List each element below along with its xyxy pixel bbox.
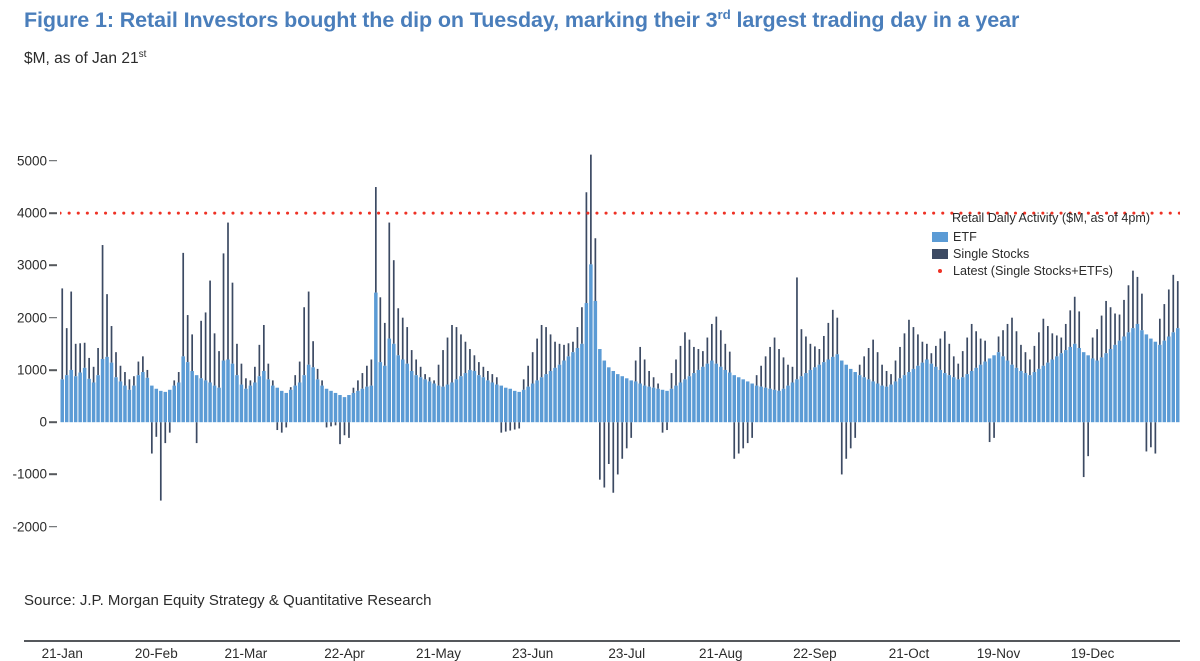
bar-etf — [585, 303, 588, 422]
bar-etf — [181, 356, 184, 422]
bar-etf — [329, 391, 332, 422]
bar-single-stocks — [621, 422, 623, 459]
y-axis-tick-mark — [49, 526, 57, 528]
bar-single-stocks — [666, 422, 668, 430]
bar-single-stocks — [1047, 326, 1049, 363]
bar-etf — [302, 375, 305, 422]
bar-single-stocks — [518, 422, 520, 428]
bar-single-stocks — [1132, 271, 1134, 328]
bar-etf — [1172, 332, 1175, 422]
bar-single-stocks — [662, 422, 664, 432]
bar-etf — [1100, 357, 1103, 422]
x-axis-tick-label: 20-Feb — [135, 646, 178, 661]
bar-single-stocks — [966, 338, 968, 375]
legend-item-etf[interactable]: ETF — [932, 228, 1198, 245]
bar-etf — [1055, 356, 1058, 422]
bar-etf — [759, 387, 762, 423]
bar-etf — [208, 382, 211, 422]
bar-etf — [217, 388, 220, 422]
bar-single-stocks — [792, 367, 794, 383]
bar-etf — [912, 369, 915, 422]
bar-single-stocks — [917, 334, 919, 365]
bar-single-stocks — [890, 374, 892, 384]
bar-single-stocks — [1168, 289, 1170, 336]
bar-etf — [992, 355, 995, 422]
y-axis-tick-mark — [49, 474, 57, 476]
bar-single-stocks — [926, 344, 928, 360]
bar-etf — [531, 384, 534, 423]
bar-single-stocks — [1029, 359, 1031, 375]
bar-single-stocks — [1074, 297, 1076, 344]
bar-single-stocks — [527, 366, 529, 387]
bar-single-stocks — [182, 253, 184, 356]
bar-etf — [60, 379, 63, 422]
bar-etf — [1145, 334, 1148, 422]
bar-single-stocks — [344, 422, 346, 435]
bar-etf — [876, 384, 879, 423]
bar-single-stocks — [1110, 307, 1112, 349]
bar-etf — [450, 382, 453, 422]
bar-single-stocks — [523, 379, 525, 389]
bar-single-stocks — [84, 343, 86, 368]
bar-single-stocks — [1016, 331, 1018, 368]
bar-etf — [809, 370, 812, 422]
bar-single-stocks — [102, 245, 104, 359]
bar-single-stocks — [810, 344, 812, 370]
bar-single-stocks — [541, 325, 543, 377]
bar-etf — [652, 388, 655, 422]
bar-single-stocks — [586, 192, 588, 303]
bar-single-stocks — [1150, 422, 1152, 447]
bar-single-stocks — [778, 349, 780, 391]
plot-area — [60, 140, 1180, 545]
bar-single-stocks — [608, 422, 610, 464]
bar-single-stocks — [465, 342, 467, 373]
bar-etf — [701, 367, 704, 422]
bar-single-stocks — [406, 327, 408, 364]
y-axis-tick-label: 0 — [39, 415, 47, 430]
page-title-superscript: rd — [718, 7, 731, 22]
bar-single-stocks — [823, 336, 825, 362]
bar-single-stocks — [115, 352, 117, 377]
bar-single-stocks — [500, 422, 502, 432]
bar-etf — [204, 380, 207, 422]
bar-etf — [983, 362, 986, 423]
bar-single-stocks — [980, 339, 982, 365]
bar-single-stocks — [1007, 324, 1009, 361]
bar-etf — [137, 375, 140, 422]
bar-etf — [549, 371, 552, 422]
bar-etf — [164, 392, 167, 422]
x-axis-tick-label: 22-Sep — [793, 646, 837, 661]
bar-etf — [768, 389, 771, 422]
bar-etf — [782, 389, 785, 422]
bar-etf — [361, 389, 364, 422]
legend-item-latest[interactable]: Latest (Single Stocks+ETFs) — [932, 262, 1198, 279]
bar-single-stocks — [559, 344, 561, 365]
bar-etf — [1136, 324, 1139, 422]
bar-etf — [177, 382, 180, 422]
bar-etf — [728, 373, 731, 423]
bar-etf — [607, 367, 610, 422]
bar-single-stocks — [173, 380, 175, 385]
bar-etf — [1104, 353, 1107, 422]
bar-single-stocks — [635, 361, 637, 382]
bar-single-stocks — [545, 327, 547, 374]
bar-etf — [172, 386, 175, 423]
bar-single-stocks — [774, 338, 776, 390]
bar-single-stocks — [957, 364, 959, 380]
bar-single-stocks — [379, 297, 381, 362]
y-axis: -2000-1000010002000300040005000 — [0, 95, 47, 575]
bar-etf — [764, 388, 767, 422]
bar-etf — [813, 367, 816, 422]
bar-single-stocks — [572, 342, 574, 352]
bar-etf — [939, 370, 942, 422]
bar-etf — [836, 354, 839, 422]
bar-etf — [267, 379, 270, 422]
bar-etf — [284, 393, 287, 422]
bar-etf — [921, 363, 924, 423]
bar-single-stocks — [630, 422, 632, 438]
bar-etf — [83, 368, 86, 422]
bar-single-stocks — [285, 422, 287, 427]
bar-etf — [849, 369, 852, 422]
bar-etf — [1006, 361, 1009, 423]
bar-single-stocks — [214, 333, 216, 385]
bar-etf — [822, 362, 825, 422]
bar-single-stocks — [169, 422, 171, 432]
bar-etf — [589, 264, 592, 422]
bar-single-stocks — [922, 342, 924, 363]
bar-single-stocks — [151, 422, 153, 453]
x-axis-tick-label: 21-Oct — [889, 646, 930, 661]
bar-single-stocks — [88, 358, 90, 379]
bar-single-stocks — [751, 422, 753, 438]
bar-etf — [150, 386, 153, 423]
bar-single-stocks — [241, 364, 243, 385]
bar-single-stocks — [106, 294, 108, 357]
bar-etf — [661, 390, 664, 422]
bar-single-stocks — [61, 288, 63, 379]
bar-single-stocks — [236, 344, 238, 375]
bar-etf — [827, 359, 830, 422]
bar-single-stocks — [1177, 281, 1179, 328]
bar-single-stocks — [863, 356, 865, 377]
bar-etf — [934, 367, 937, 422]
x-axis-tick-label: 19-Dec — [1071, 646, 1115, 661]
bar-etf — [1109, 349, 1112, 422]
bar-single-stocks — [223, 253, 225, 360]
bar-etf — [1082, 352, 1085, 422]
y-axis-tick-mark — [49, 212, 57, 214]
bar-etf — [1091, 358, 1094, 422]
bar-single-stocks — [424, 374, 426, 379]
bar-etf — [316, 379, 319, 422]
source-note: Source: J.P. Morgan Equity Strategy & Qu… — [24, 592, 431, 609]
bar-single-stocks — [397, 308, 399, 355]
bar-etf — [1028, 375, 1031, 422]
bar-single-stocks — [469, 349, 471, 370]
bar-etf — [858, 375, 861, 422]
bar-single-stocks — [563, 345, 565, 361]
bar-single-stocks — [79, 343, 81, 372]
bar-etf — [1131, 328, 1134, 422]
bar-etf — [1176, 328, 1179, 422]
bar-etf — [486, 380, 489, 422]
bar-etf — [423, 379, 426, 422]
bar-single-stocks — [599, 422, 601, 479]
page-title-suffix: largest trading day in a year — [731, 8, 1020, 32]
bar-single-stocks — [783, 357, 785, 388]
bar-single-stocks — [1101, 316, 1103, 358]
bar-single-stocks — [317, 369, 319, 379]
bar-single-stocks — [384, 323, 386, 366]
bar-single-stocks — [442, 350, 444, 387]
bar-single-stocks — [989, 422, 991, 442]
bar-etf — [141, 372, 144, 422]
bar-single-stocks — [595, 238, 597, 301]
bar-single-stocks — [653, 377, 655, 387]
y-axis-tick-label: -1000 — [12, 467, 47, 482]
bar-single-stocks — [1141, 294, 1143, 331]
bar-etf — [464, 373, 467, 422]
bar-etf — [620, 376, 623, 422]
bar-etf — [235, 375, 238, 422]
bar-etf — [737, 377, 740, 422]
bar-etf — [213, 386, 216, 423]
bar-single-stocks — [603, 422, 605, 487]
bar-etf — [925, 359, 928, 422]
bar-single-stocks — [196, 422, 198, 443]
bar-etf — [526, 387, 529, 423]
bar-single-stocks — [1038, 332, 1040, 369]
bar-etf — [715, 364, 718, 423]
bar-single-stocks — [303, 307, 305, 375]
bar-single-stocks — [250, 380, 252, 385]
bar-etf — [468, 370, 471, 422]
bar-single-stocks — [859, 365, 861, 375]
bar-etf — [74, 376, 77, 422]
bar-single-stocks — [353, 388, 355, 393]
bar-single-stocks — [1159, 319, 1161, 345]
legend-label-latest: Latest (Single Stocks+ETFs) — [953, 264, 1113, 278]
bar-etf — [952, 377, 955, 422]
bar-etf — [517, 392, 520, 422]
y-axis-tick-label: 5000 — [17, 153, 47, 168]
bar-etf — [508, 389, 511, 422]
bar-etf — [997, 352, 1000, 422]
bar-etf — [226, 359, 229, 422]
bar-etf — [755, 386, 758, 423]
bar-etf — [943, 373, 946, 422]
bar-single-stocks — [1034, 346, 1036, 372]
bar-etf — [146, 378, 149, 422]
bar-single-stocks — [276, 422, 278, 430]
bar-etf — [222, 361, 225, 423]
single-stocks-bars — [61, 155, 1178, 501]
page-subtitle-prefix: $M, as of Jan 21 — [24, 50, 139, 67]
bar-single-stocks — [612, 422, 614, 493]
bar-single-stocks — [415, 359, 417, 375]
bar-single-stocks — [254, 367, 256, 383]
bar-etf — [419, 377, 422, 422]
bar-etf — [311, 367, 314, 422]
bar-single-stocks — [1043, 319, 1045, 366]
bar-single-stocks — [886, 371, 888, 387]
bar-single-stocks — [787, 365, 789, 386]
bar-single-stocks — [617, 422, 619, 474]
bar-single-stocks — [326, 422, 328, 427]
bar-etf — [105, 357, 108, 422]
bar-etf — [352, 393, 355, 422]
bar-etf — [491, 382, 494, 422]
bar-single-stocks — [801, 329, 803, 376]
bar-single-stocks — [111, 326, 113, 363]
bar-single-stocks — [411, 350, 413, 371]
bar-single-stocks — [294, 375, 296, 385]
bar-etf — [719, 367, 722, 422]
bar-etf — [880, 386, 883, 423]
bar-etf — [889, 385, 892, 423]
bar-single-stocks — [536, 339, 538, 381]
bar-etf — [974, 368, 977, 422]
bar-etf — [629, 380, 632, 422]
bar-etf — [580, 344, 583, 422]
bar-etf — [482, 377, 485, 422]
bar-single-stocks — [290, 387, 292, 390]
bar-etf — [231, 364, 234, 423]
x-axis-tick-label: 21-May — [416, 646, 461, 661]
bar-single-stocks — [984, 341, 986, 362]
bar-single-stocks — [711, 324, 713, 361]
bar-etf — [428, 381, 431, 422]
bar-single-stocks — [931, 353, 933, 363]
bar-etf — [343, 397, 346, 422]
bar-single-stocks — [845, 422, 847, 459]
legend-item-single-stocks[interactable]: Single Stocks — [932, 245, 1198, 262]
bar-etf — [1127, 332, 1130, 422]
bar-etf — [1060, 353, 1063, 422]
y-axis-tick-mark — [49, 369, 57, 371]
bar-etf — [1122, 336, 1125, 422]
bar-single-stocks — [854, 422, 856, 438]
legend-swatch-latest-dotted-line — [932, 266, 948, 276]
bar-etf — [119, 381, 122, 422]
bar-etf — [1064, 350, 1067, 422]
bar-single-stocks — [97, 348, 99, 375]
bar-etf — [1019, 371, 1022, 422]
bar-single-stocks — [245, 378, 247, 388]
bar-single-stocks — [944, 331, 946, 373]
bar-single-stocks — [756, 375, 758, 385]
bar-single-stocks — [451, 325, 453, 382]
bar-etf — [831, 357, 834, 422]
bar-single-stocks — [491, 374, 493, 382]
bar-etf — [78, 373, 81, 423]
bar-single-stocks — [308, 292, 310, 365]
bar-single-stocks — [138, 362, 140, 376]
bar-single-stocks — [187, 315, 189, 362]
bar-etf — [540, 377, 543, 422]
bar-single-stocks — [1011, 318, 1013, 365]
bar-etf — [894, 381, 897, 422]
bar-single-stocks — [1025, 352, 1027, 373]
bar-single-stocks — [478, 362, 480, 375]
bar-single-stocks — [550, 334, 552, 371]
bar-single-stocks — [769, 347, 771, 389]
bar-single-stocks — [321, 380, 323, 385]
bar-single-stocks — [747, 422, 749, 443]
bar-etf — [262, 371, 265, 422]
bar-etf — [679, 382, 682, 422]
bar-single-stocks — [680, 346, 682, 383]
bar-etf — [87, 379, 90, 422]
bar-single-stocks — [689, 340, 691, 377]
y-axis-tick-label: -2000 — [12, 519, 47, 534]
bar-single-stocks — [155, 422, 157, 437]
bar-etf — [907, 372, 910, 422]
y-axis-tick-label: 3000 — [17, 258, 47, 273]
bar-etf — [441, 387, 444, 423]
bar-etf — [773, 390, 776, 422]
bar-single-stocks — [402, 318, 404, 360]
bar-single-stocks — [742, 422, 744, 448]
bar-etf — [307, 365, 310, 422]
bar-etf — [473, 371, 476, 422]
bar-single-stocks — [505, 422, 507, 431]
bar-etf — [840, 361, 843, 423]
bar-etf — [258, 376, 261, 422]
bar-etf — [298, 382, 301, 422]
bar-single-stocks — [707, 338, 709, 364]
bar-etf — [930, 364, 933, 423]
bar-etf — [988, 358, 991, 422]
bar-single-stocks — [1092, 338, 1094, 359]
x-axis-tick-label: 21-Aug — [699, 646, 743, 661]
bar-etf — [979, 365, 982, 422]
bar-etf — [853, 372, 856, 422]
bar-single-stocks — [1096, 329, 1098, 360]
bar-etf — [741, 379, 744, 422]
y-axis-tick-mark — [49, 317, 57, 319]
bar-etf — [948, 375, 951, 422]
bar-single-stocks — [1087, 422, 1089, 456]
bar-single-stocks — [644, 359, 646, 385]
bar-single-stocks — [1105, 301, 1107, 353]
bar-single-stocks — [66, 328, 68, 375]
bar-single-stocks — [281, 422, 283, 432]
bar-single-stocks — [178, 372, 180, 382]
bar-etf — [320, 386, 323, 423]
bar-single-stocks — [429, 377, 431, 381]
bar-etf — [1037, 369, 1040, 422]
y-axis-tick-label: 2000 — [17, 310, 47, 325]
bar-etf — [643, 386, 646, 423]
chart-container: -2000-1000010002000300040005000 Retail D… — [0, 95, 1200, 575]
x-axis-tick-label: 21-Mar — [225, 646, 268, 661]
bar-single-stocks — [263, 325, 265, 371]
bar-etf — [553, 368, 556, 422]
bar-single-stocks — [1172, 275, 1174, 332]
bar-single-stocks — [420, 367, 422, 377]
bar-etf — [647, 387, 650, 423]
bar-etf — [571, 352, 574, 422]
bar-single-stocks — [639, 347, 641, 384]
bar-etf — [1001, 356, 1004, 422]
bar-single-stocks — [908, 320, 910, 372]
bar-single-stocks — [827, 323, 829, 360]
